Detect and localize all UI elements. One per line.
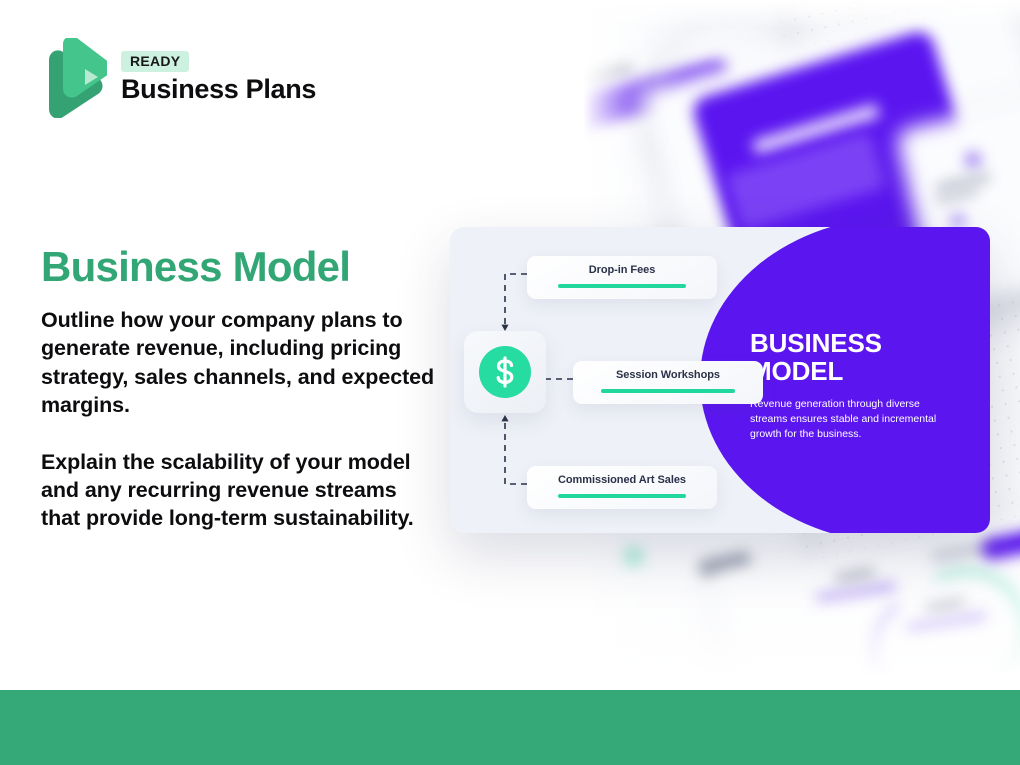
body-paragraph-2: Explain the scalability of your model an… <box>41 448 441 533</box>
stream-chip-bar <box>558 284 686 288</box>
purple-panel-description: Revenue generation through diverse strea… <box>750 397 938 443</box>
stream-chip-label: Drop-in Fees <box>541 264 703 276</box>
slide-preview-card[interactable]: BUSINESS MODEL Revenue generation throug… <box>450 227 990 533</box>
bg-fade-bottom <box>583 540 1020 690</box>
body-paragraph-1: Outline how your company plans to genera… <box>41 306 441 420</box>
purple-panel-title: BUSINESS MODEL <box>750 329 882 385</box>
stream-chip-bar <box>558 494 686 498</box>
stream-chip-commissioned-art-sales[interactable]: Commissioned Art Sales <box>527 466 717 509</box>
bg-fade-top <box>583 0 1020 28</box>
brand-title: Business Plans <box>121 75 316 105</box>
brand-text: READY Business Plans <box>121 51 316 105</box>
stream-chip-drop-in-fees[interactable]: Drop-in Fees <box>527 256 717 299</box>
dollar-sign-icon <box>479 346 531 398</box>
purple-panel-title-line-2: MODEL <box>750 356 843 386</box>
page-title: Business Model <box>41 244 350 289</box>
slide-root: READY Business Plans Business Model Outl… <box>0 0 1020 765</box>
footer-bar <box>0 690 1020 765</box>
stream-chip-bar <box>601 389 735 393</box>
stream-chip-label: Session Workshops <box>587 369 749 381</box>
play-triangle-logo-icon <box>41 38 107 118</box>
bg-dot-purple-right <box>965 152 981 168</box>
bg-dot-purple-right-2 <box>951 214 965 228</box>
brand-lockup: READY Business Plans <box>41 38 316 118</box>
stream-chip-session-workshops[interactable]: Session Workshops <box>573 361 763 404</box>
ready-badge: READY <box>121 51 189 72</box>
body-copy: Outline how your company plans to genera… <box>41 306 441 533</box>
stream-chip-label: Commissioned Art Sales <box>541 474 703 486</box>
revenue-hub <box>464 331 546 413</box>
purple-panel-title-line-1: BUSINESS <box>750 328 882 358</box>
